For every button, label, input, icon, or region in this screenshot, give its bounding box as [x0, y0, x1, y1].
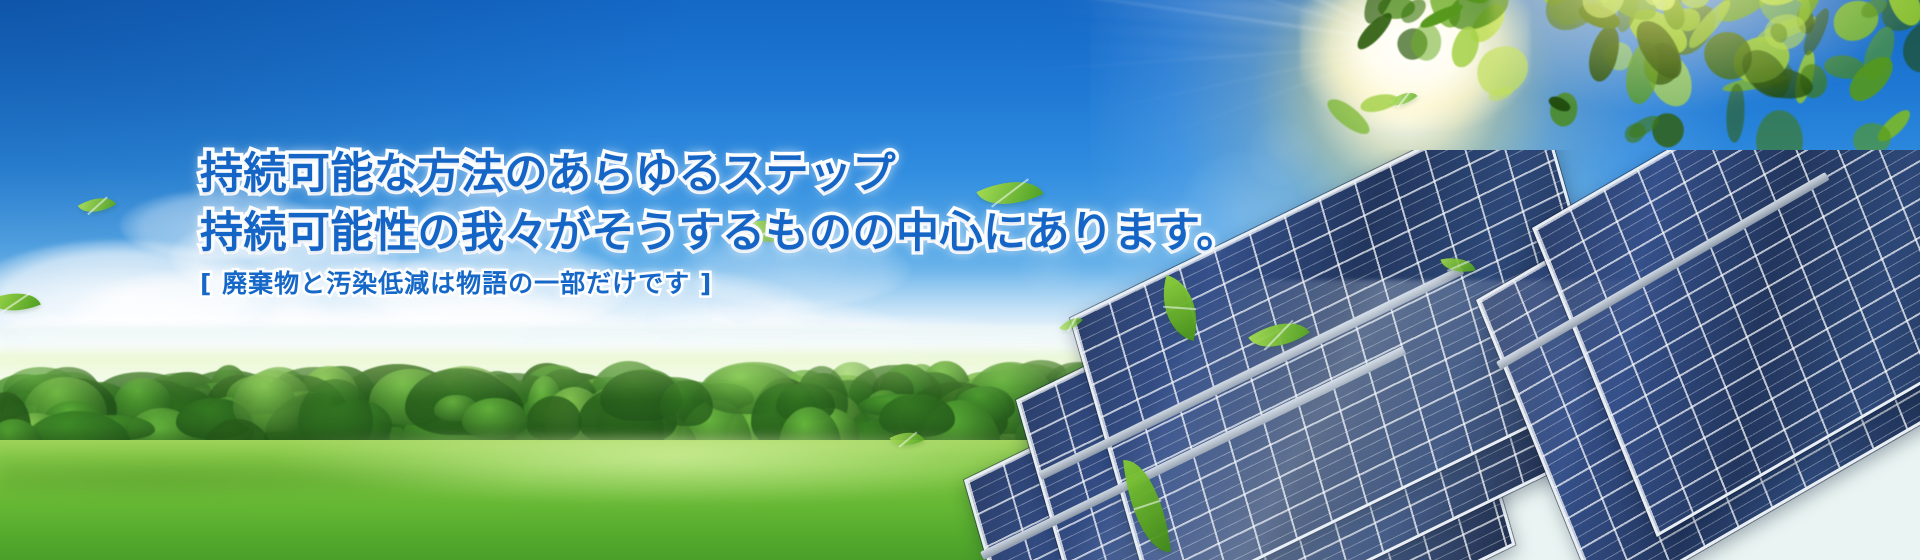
headline-block: 持続可能な方法のあらゆるステップ 持続可能性の我々がそうするものの中心にあります…	[200, 146, 1100, 301]
tree-crown	[462, 398, 528, 439]
hero-banner: 持続可能な方法のあらゆるステップ 持続可能性の我々がそうするものの中心にあります…	[0, 0, 1920, 560]
subheadline: [ 廃棄物と汚染低減は物語の一部だけです ]	[200, 268, 1100, 301]
headline-line-1: 持続可能な方法のあらゆるステップ	[200, 146, 1100, 203]
grass-shadow	[0, 452, 520, 502]
headline-line-2: 持続可能性の我々がそうするものの中心にあります。	[200, 205, 1100, 262]
sun-core-icon	[1300, 0, 1530, 130]
